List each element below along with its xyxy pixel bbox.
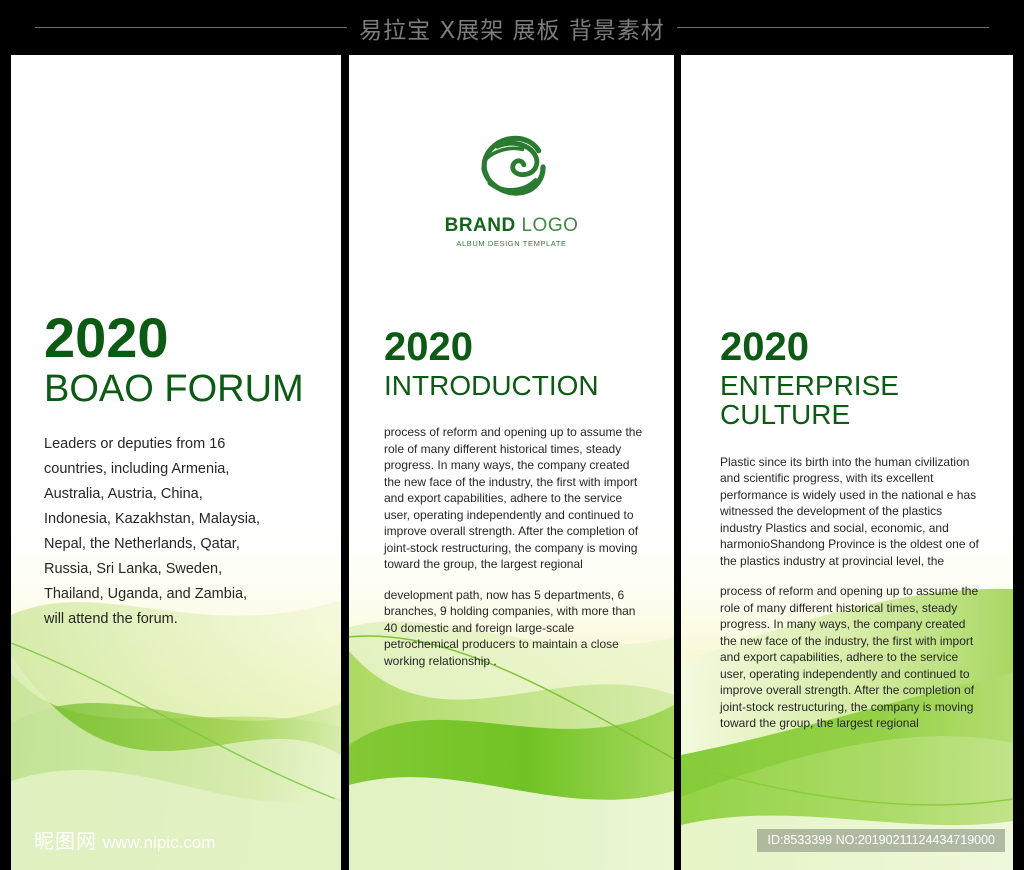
poster-panel-boao-forum[interactable]: 2020 BOAO FORUM Leaders or deputies from…: [11, 55, 341, 870]
brand-logo: BRAND LOGO ALBUM DESIGN TEMPLATE: [349, 130, 674, 248]
body-line: Indonesia, Kazakhstan, Malaysia,: [44, 507, 311, 532]
panel-1-year: 2020: [44, 310, 311, 366]
panel-1-body: Leaders or deputies from 16 countries, i…: [44, 432, 311, 632]
brand-logo-name-light: LOGO: [521, 215, 578, 236]
header-title: 易拉宝 X展架 展板 背景素材: [359, 11, 665, 45]
panel-3-content: 2020 ENTERPRISE CULTURE Plastic since it…: [681, 327, 1013, 732]
panel-3-body: Plastic since its birth into the human c…: [720, 454, 981, 732]
panel-2-subtitle: INTRODUCTION: [384, 371, 646, 400]
site-watermark-url: www.nipic.com: [103, 833, 215, 853]
panel-2-content: 2020 INTRODUCTION process of reform and …: [349, 327, 674, 669]
poster-panel-introduction[interactable]: BRAND LOGO ALBUM DESIGN TEMPLATE 2020 IN…: [349, 55, 674, 870]
body-paragraph: development path, now has 5 departments,…: [384, 587, 646, 670]
body-line: Leaders or deputies from 16: [44, 432, 311, 457]
body-line: Australia, Austria, China,: [44, 482, 311, 507]
panel-3-year: 2020: [720, 327, 981, 367]
site-watermark-cn: 昵图网: [34, 825, 97, 854]
body-line: Nepal, the Netherlands, Qatar,: [44, 532, 311, 557]
header-bar: 易拉宝 X展架 展板 背景素材: [0, 0, 1024, 55]
panel-1-content: 2020 BOAO FORUM Leaders or deputies from…: [11, 310, 341, 632]
green-spiral-globe-icon: [475, 130, 549, 204]
panel-3-subtitle: ENTERPRISE CULTURE: [720, 371, 981, 430]
header-rule-left: [35, 27, 347, 28]
brand-logo-name: BRAND LOGO: [445, 216, 579, 235]
body-paragraph: process of reform and opening up to assu…: [384, 424, 646, 573]
header-rule-right: [677, 27, 989, 28]
panel-1-subtitle: BOAO FORUM: [44, 370, 311, 410]
body-paragraph: Plastic since its birth into the human c…: [720, 454, 981, 570]
brand-logo-name-bold: BRAND: [445, 215, 516, 236]
poster-canvas: 易拉宝 X展架 展板 背景素材: [0, 0, 1024, 870]
site-watermark: 昵图网 www.nipic.com: [34, 825, 215, 854]
body-paragraph: process of reform and opening up to assu…: [720, 583, 981, 732]
brand-logo-tagline: ALBUM DESIGN TEMPLATE: [456, 239, 566, 248]
body-line: will attend the forum.: [44, 607, 311, 632]
asset-id-badge: ID:8533399 NO:20190211124434719000: [757, 829, 1005, 852]
body-line: countries, including Armenia,: [44, 457, 311, 482]
body-line: Thailand, Uganda, and Zambia,: [44, 582, 311, 607]
body-line: Russia, Sri Lanka, Sweden,: [44, 557, 311, 582]
panel-2-body: process of reform and opening up to assu…: [384, 424, 646, 669]
poster-panel-enterprise-culture[interactable]: 2020 ENTERPRISE CULTURE Plastic since it…: [681, 55, 1013, 870]
panel-2-year: 2020: [384, 327, 646, 367]
